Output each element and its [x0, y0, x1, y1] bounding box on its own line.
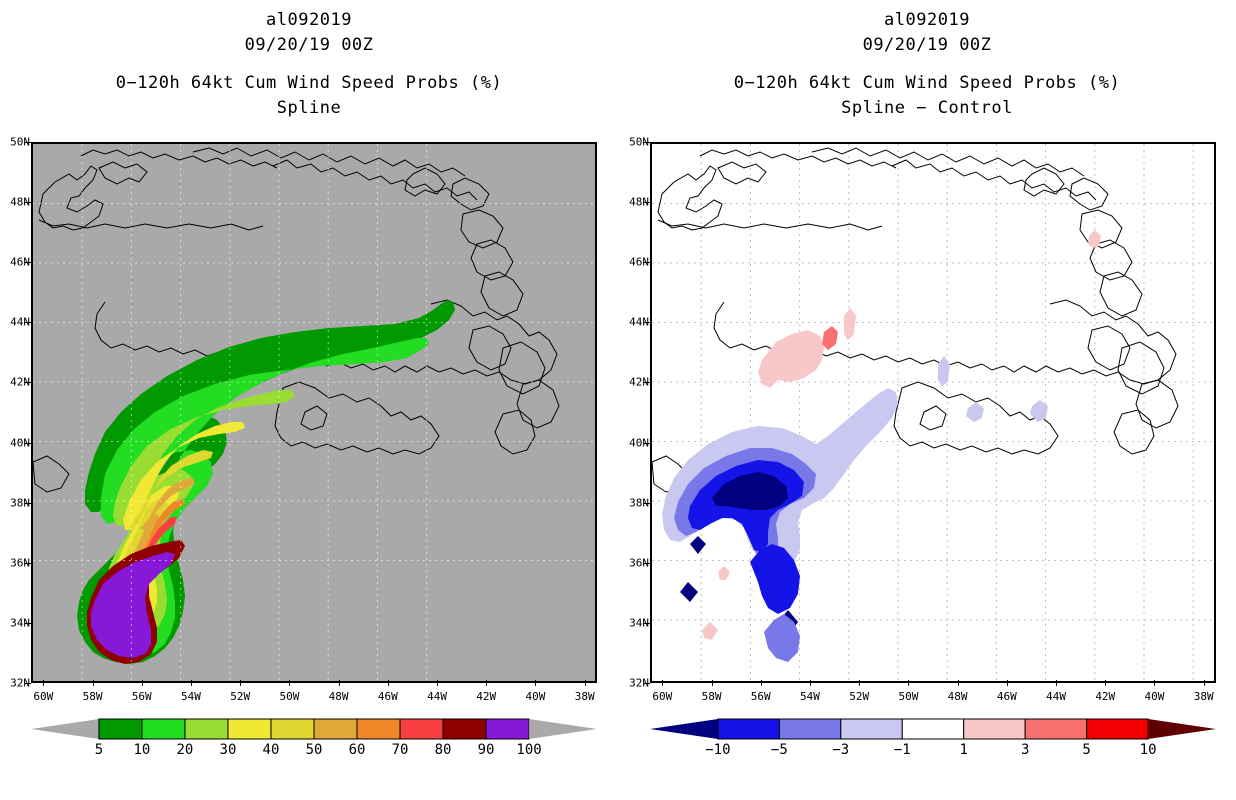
y-axis-tick-left — [25, 443, 31, 444]
y-axis-tick-right — [644, 262, 650, 263]
y-axis-tick-right — [644, 142, 650, 143]
colorbar-label-right: 1 — [960, 742, 968, 758]
y-axis-tick-left — [25, 262, 31, 263]
colorbar-swatch-left[interactable] — [271, 719, 314, 739]
anomaly-navy-diamond-1 — [680, 582, 698, 602]
x-axis-label-right: 50W — [898, 690, 918, 703]
anomaly-positive-2 — [844, 308, 856, 340]
x-axis-tick-right — [712, 680, 713, 686]
y-axis-tick-right — [644, 623, 650, 624]
colorbar-swatch-left[interactable] — [99, 719, 142, 739]
colorbar-svg-left — [31, 716, 597, 742]
colorbar-swatch-left[interactable] — [443, 719, 486, 739]
y-axis-tick-right — [644, 382, 650, 383]
colorbar-arrow-high-right — [1148, 719, 1216, 739]
x-axis-tick-right — [1204, 680, 1205, 686]
colorbar-label-left: 90 — [478, 742, 495, 758]
y-axis-right: 32N34N36N38N40N42N44N46N48N50N — [619, 142, 649, 683]
y-axis-tick-left — [25, 202, 31, 203]
left-title: 0−120h 64kt Cum Wind Speed Probs (%) — [0, 71, 618, 96]
x-axis-label-right: 40W — [1145, 690, 1165, 703]
x-axis-tick-right — [958, 680, 959, 686]
x-axis-tick-right — [1007, 680, 1008, 686]
colorbar-arrow-low-right — [650, 719, 718, 739]
colorbar-swatch-right[interactable] — [779, 719, 840, 739]
x-axis-tick-left — [388, 680, 389, 686]
x-axis-tick-right — [761, 680, 762, 686]
y-axis-left: 32N34N36N38N40N42N44N46N48N50N — [0, 142, 30, 683]
x-axis-tick-right — [1154, 680, 1155, 686]
map-plot-difference[interactable] — [650, 142, 1216, 683]
y-axis-tick-left — [25, 623, 31, 624]
x-axis-right: 60W58W56W54W52W50W48W46W44W42W40W38W — [650, 686, 1216, 708]
y-axis-tick-right — [644, 443, 650, 444]
colorbar-label-left: 30 — [220, 742, 237, 758]
x-axis-tick-left — [486, 680, 487, 686]
x-axis-label-left: 54W — [181, 690, 201, 703]
colorbar-label-left: 80 — [435, 742, 452, 758]
x-axis-tick-left — [535, 680, 536, 686]
x-axis-tick-left — [585, 680, 586, 686]
x-axis-label-left: 50W — [279, 690, 299, 703]
colorbar-swatch-right[interactable] — [902, 719, 963, 739]
colorbar-label-left: 10 — [133, 742, 150, 758]
right-title: 0−120h 64kt Cum Wind Speed Probs (%) — [618, 71, 1236, 96]
colorbar-label-right: −1 — [894, 742, 911, 758]
anomaly-negative-speck-2 — [966, 402, 984, 422]
colorbar-label-right: 10 — [1140, 742, 1157, 758]
colorbar-label-left: 70 — [392, 742, 409, 758]
colorbar-label-right: −10 — [705, 742, 730, 758]
anomaly-navy-diamond-2 — [690, 536, 706, 554]
x-axis-label-left: 46W — [378, 690, 398, 703]
colorbar-swatch-right[interactable] — [1087, 719, 1148, 739]
colorbar-label-left: 50 — [306, 742, 323, 758]
x-axis-label-right: 58W — [702, 690, 722, 703]
x-axis-tick-right — [1105, 680, 1106, 686]
x-axis-tick-left — [437, 680, 438, 686]
x-axis-label-right: 46W — [997, 690, 1017, 703]
colorbar-arrow-low-left — [31, 719, 99, 739]
x-axis-label-left: 38W — [575, 690, 595, 703]
x-axis-tick-right — [1056, 680, 1057, 686]
colorbar-right[interactable] — [650, 716, 1216, 742]
x-axis-label-right: 54W — [800, 690, 820, 703]
colorbar-swatch-left[interactable] — [142, 719, 185, 739]
anomaly-positive-speck-1 — [718, 566, 730, 580]
colorbar-label-left: 5 — [95, 742, 103, 758]
colorbar-swatch-right[interactable] — [718, 719, 779, 739]
colorbar-swatch-left[interactable] — [400, 719, 443, 739]
x-axis-label-right: 38W — [1194, 690, 1214, 703]
y-axis-tick-right — [644, 202, 650, 203]
x-axis-label-left: 44W — [427, 690, 447, 703]
colorbar-swatch-right[interactable] — [841, 719, 902, 739]
left-panel-titles: al092019 09/20/19 00Z 0−120h 64kt Cum Wi… — [0, 8, 618, 121]
anomaly-positive-speck-2 — [702, 622, 718, 640]
x-axis-label-left: 40W — [526, 690, 546, 703]
probability-contours-left — [77, 300, 455, 664]
right-panel-titles: al092019 09/20/19 00Z 0−120h 64kt Cum Wi… — [618, 8, 1236, 121]
anomaly-positive-1 — [758, 330, 824, 388]
y-axis-tick-right — [644, 503, 650, 504]
left-datetime: 09/20/19 00Z — [0, 33, 618, 58]
colorbar-swatch-left[interactable] — [228, 719, 271, 739]
y-axis-tick-left — [25, 563, 31, 564]
colorbar-left[interactable] — [31, 716, 597, 742]
colorbar-label-left: 20 — [177, 742, 194, 758]
difference-anomalies — [662, 230, 1101, 662]
plot-clip-right — [652, 144, 1214, 681]
colorbar-svg-right — [650, 716, 1216, 742]
x-axis-tick-right — [908, 680, 909, 686]
map-plot-spline[interactable] — [31, 142, 597, 683]
x-axis-label-left: 58W — [83, 690, 103, 703]
right-datetime: 09/20/19 00Z — [618, 33, 1236, 58]
x-axis-left: 60W58W56W54W52W50W48W46W44W42W40W38W — [31, 686, 597, 708]
colorbar-swatch-left[interactable] — [185, 719, 228, 739]
x-axis-label-right: 60W — [652, 690, 672, 703]
right-subtitle: Spline − Control — [618, 96, 1236, 121]
x-axis-tick-right — [662, 680, 663, 686]
plot-clip-left — [33, 144, 595, 681]
x-axis-label-right: 48W — [948, 690, 968, 703]
colorbar-swatch-right[interactable] — [1025, 719, 1086, 739]
colorbar-swatch-left[interactable] — [486, 719, 529, 739]
colorbar-label-left: 40 — [263, 742, 280, 758]
y-axis-tick-left — [25, 683, 31, 684]
anomaly-positive-3 — [1088, 230, 1101, 248]
colorbar-swatch-left[interactable] — [314, 719, 357, 739]
y-axis-tick-left — [25, 142, 31, 143]
x-axis-tick-left — [339, 680, 340, 686]
x-axis-label-left: 42W — [476, 690, 496, 703]
x-axis-tick-left — [240, 680, 241, 686]
colorbar-label-left: 60 — [349, 742, 366, 758]
x-axis-label-left: 52W — [230, 690, 250, 703]
colorbar-label-right: −5 — [771, 742, 788, 758]
anomaly-negative-speck-1 — [938, 356, 950, 386]
colorbar-label-right: 5 — [1082, 742, 1090, 758]
y-axis-tick-left — [25, 503, 31, 504]
x-axis-label-left: 56W — [132, 690, 152, 703]
x-axis-label-left: 60W — [33, 690, 53, 703]
colorbar-label-right: 3 — [1021, 742, 1029, 758]
colorbar-label-right: −3 — [832, 742, 849, 758]
x-axis-tick-right — [810, 680, 811, 686]
colorbar-right-labels: −10−5−3−113510 — [650, 742, 1216, 762]
x-axis-tick-left — [289, 680, 290, 686]
x-axis-tick-left — [43, 680, 44, 686]
x-axis-tick-left — [93, 680, 94, 686]
spline-contour-svg — [33, 144, 595, 681]
colorbar-label-left: 100 — [516, 742, 541, 758]
y-axis-tick-right — [644, 322, 650, 323]
x-axis-label-right: 56W — [751, 690, 771, 703]
y-axis-tick-left — [25, 382, 31, 383]
right-storm-id: al092019 — [618, 8, 1236, 33]
x-axis-tick-left — [191, 680, 192, 686]
anomaly-positive-core-1 — [822, 326, 838, 350]
colorbar-swatch-right[interactable] — [964, 719, 1025, 739]
y-axis-tick-right — [644, 683, 650, 684]
x-axis-label-right: 44W — [1046, 690, 1066, 703]
colorbar-arrow-high-left — [529, 719, 597, 739]
y-axis-tick-left — [25, 322, 31, 323]
left-subtitle: Spline — [0, 96, 618, 121]
x-axis-tick-left — [142, 680, 143, 686]
x-axis-tick-right — [859, 680, 860, 686]
x-axis-label-right: 42W — [1095, 690, 1115, 703]
x-axis-label-right: 52W — [849, 690, 869, 703]
difference-contour-svg — [652, 144, 1214, 681]
colorbar-swatch-left[interactable] — [357, 719, 400, 739]
x-axis-label-left: 48W — [329, 690, 349, 703]
left-storm-id: al092019 — [0, 8, 618, 33]
colorbar-left-labels: 5102030405060708090100 — [31, 742, 597, 762]
y-axis-tick-right — [644, 563, 650, 564]
